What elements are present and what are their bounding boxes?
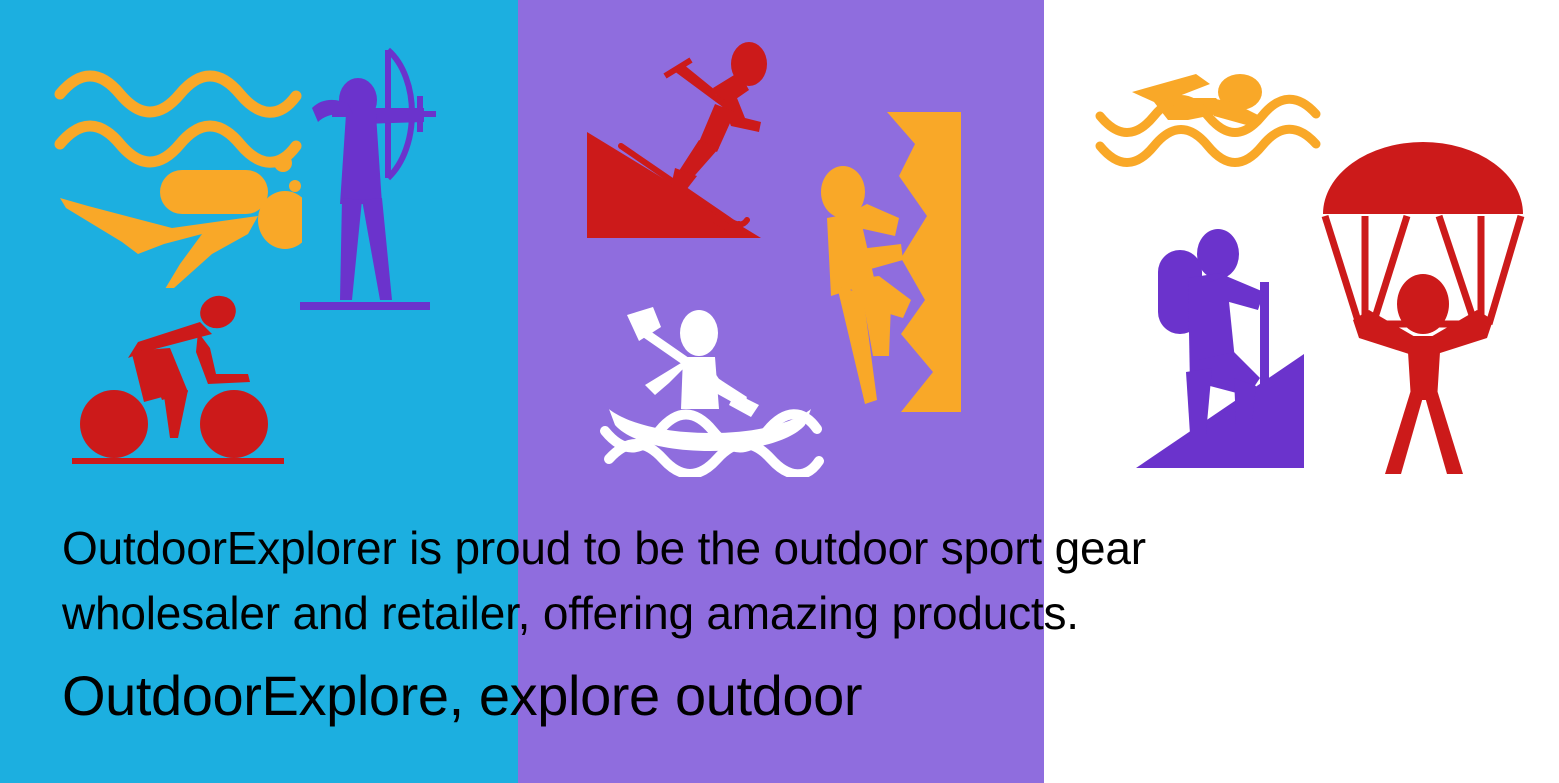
rock-climber-icon (815, 104, 967, 420)
slogan-text: OutdoorExplore, explore outdoor (62, 647, 1502, 728)
archer-icon (296, 38, 444, 333)
skier-icon (565, 42, 797, 270)
tagline-text: OutdoorExplorer is proud to be the outdo… (62, 516, 1502, 647)
swimmer-icon (1092, 58, 1324, 170)
promotional-banner: OutdoorExplorer is proud to be the outdo… (0, 0, 1559, 783)
cyclist-icon (66, 292, 292, 478)
parachutist-icon (1317, 138, 1529, 478)
banner-text-block: OutdoorExplorer is proud to be the outdo… (62, 516, 1502, 727)
kayaker-icon (595, 305, 825, 477)
scuba-diver-icon (52, 58, 302, 288)
